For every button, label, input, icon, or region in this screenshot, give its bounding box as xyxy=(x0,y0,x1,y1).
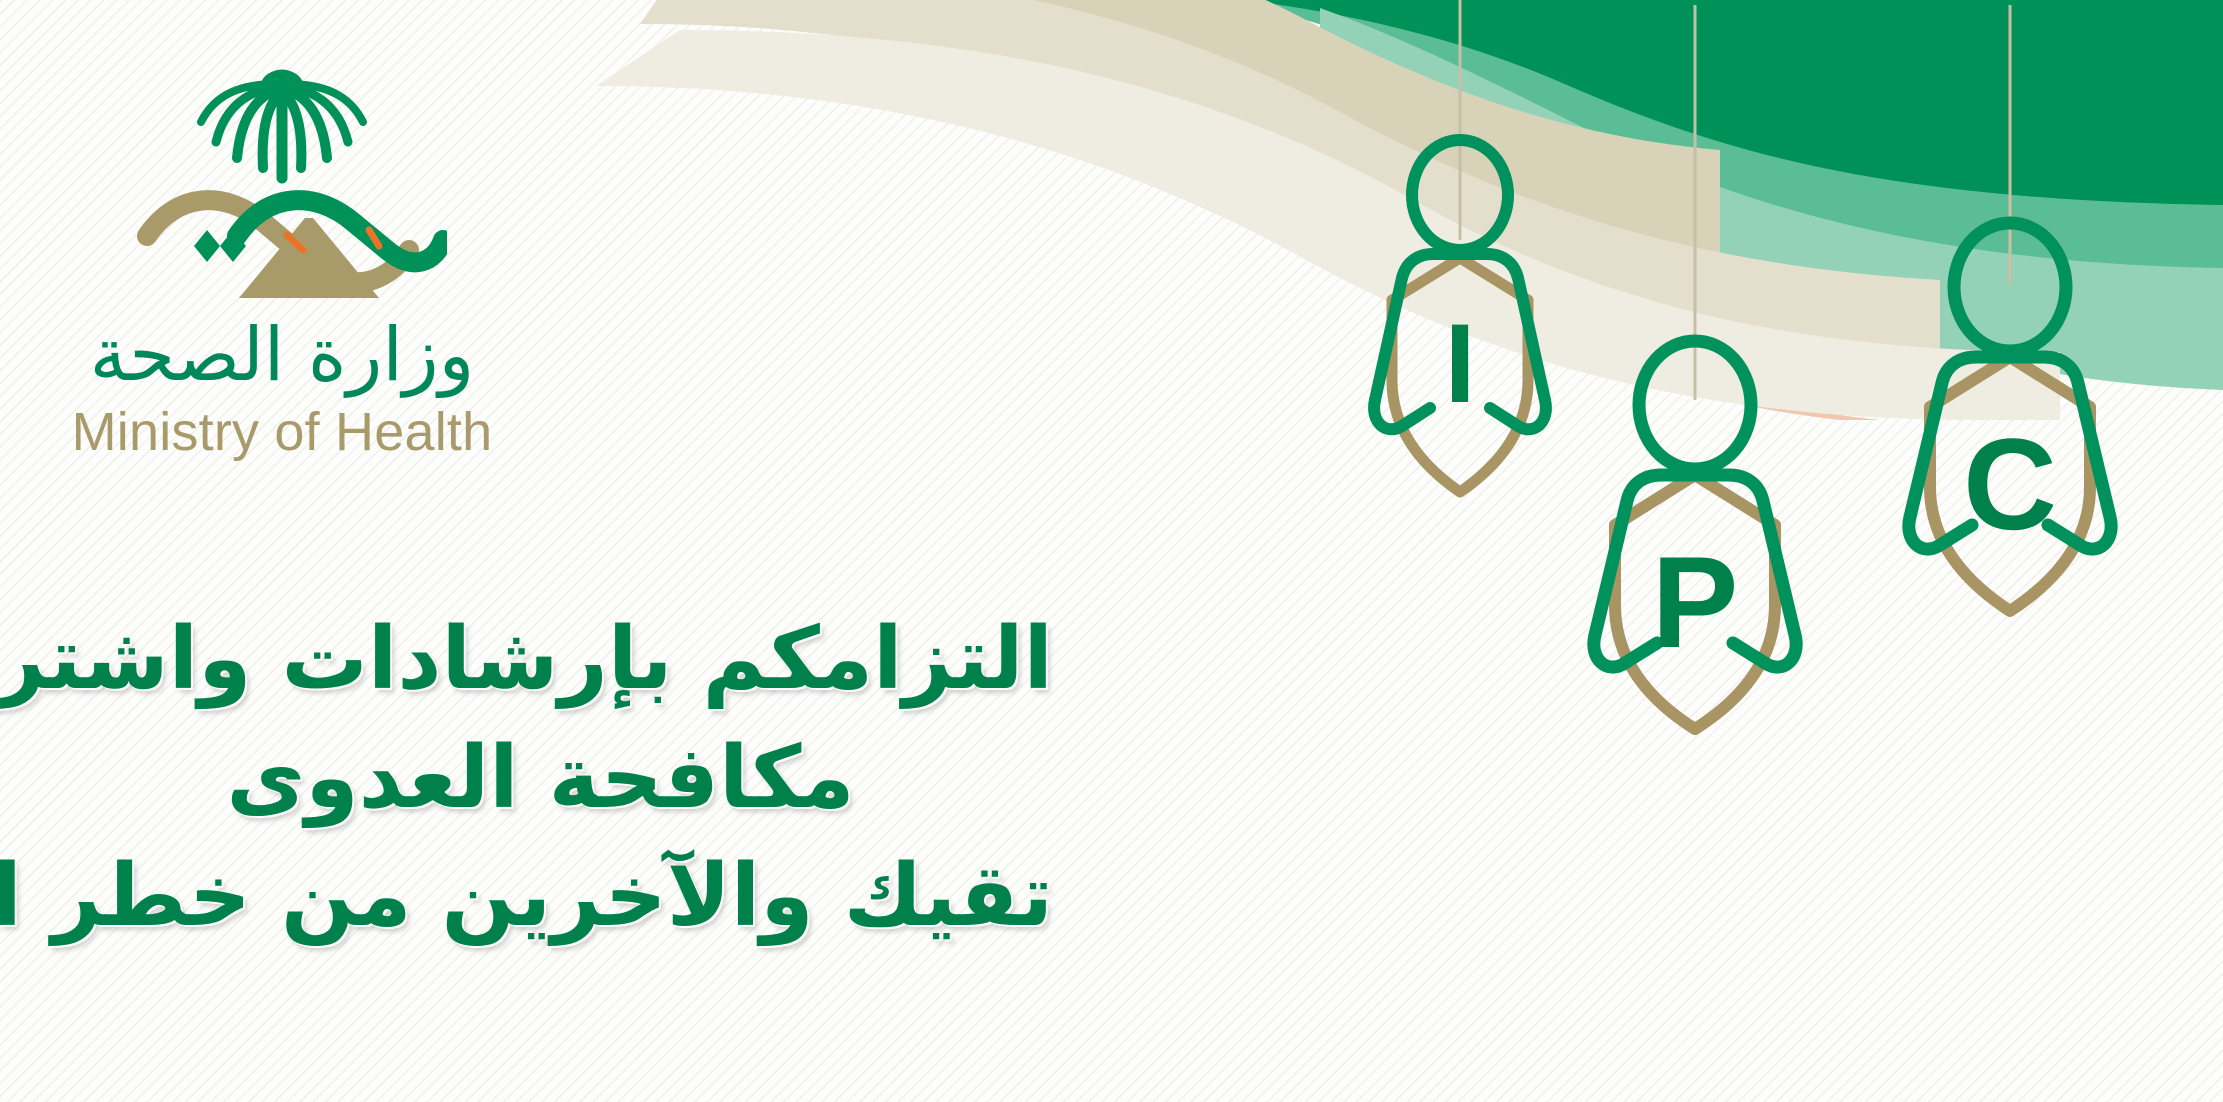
figure-control: C xyxy=(1860,135,2160,695)
figure-infection: I xyxy=(1330,130,1590,550)
logo-arabic-wordmark: وزارة الصحة xyxy=(47,306,517,402)
figure-letter: P xyxy=(1652,529,1739,675)
saudi-palm-and-swords-emblem-icon xyxy=(117,50,447,300)
headline-block: التزامكم بإرشادات واشتراطات مكافحة العدو… xyxy=(28,600,1053,956)
person-head xyxy=(1639,341,1751,469)
person-left-arm xyxy=(1594,635,1657,667)
person-head xyxy=(1954,223,2066,351)
logo-arabic-text: وزارة الصحة xyxy=(90,312,475,398)
person-body xyxy=(1595,475,1796,667)
headline-line-2: مكافحة العدوى xyxy=(28,719,1053,838)
shield-icon xyxy=(1930,357,2090,611)
ministry-of-health-logo: وزارة الصحة Ministry of Health xyxy=(22,50,542,461)
moh-infection-control-banner: I P C xyxy=(0,0,2223,1102)
headline-line-1: التزامكم بإرشادات واشتراطات xyxy=(28,600,1053,719)
person-left-arm xyxy=(1909,517,1972,549)
headline-line-3: تقيك والآخرين من خطر العدوى xyxy=(28,837,1053,956)
shield-icon xyxy=(1615,475,1775,729)
figure-prevention: P xyxy=(1545,135,1845,755)
shield-icon xyxy=(1392,258,1528,492)
figure-letter: C xyxy=(1963,411,2057,557)
figure-letter: I xyxy=(1444,301,1475,426)
logo-english-text: Ministry of Health xyxy=(22,404,542,461)
person-body xyxy=(1375,254,1546,429)
person-head xyxy=(1412,140,1508,250)
person-body xyxy=(1910,357,2111,549)
person-left-arm xyxy=(1374,400,1430,429)
